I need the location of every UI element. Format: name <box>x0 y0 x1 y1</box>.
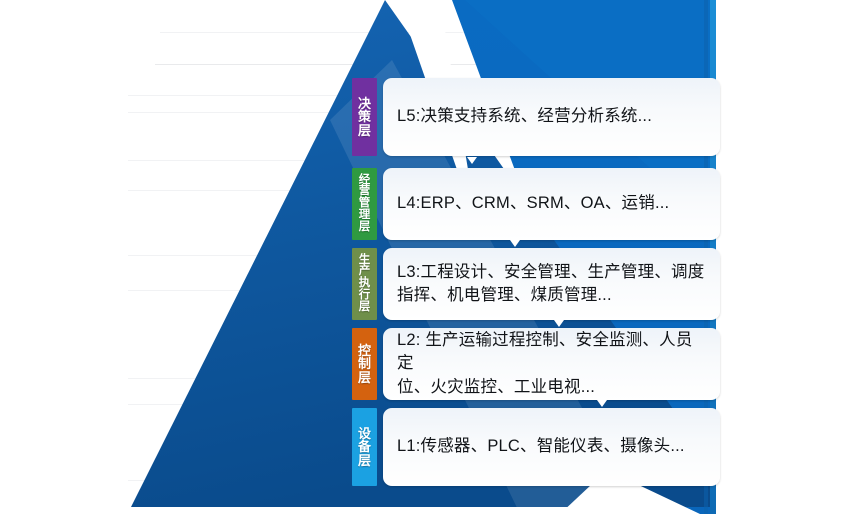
layer-tab-l5[interactable]: 决 策 层 <box>352 78 377 156</box>
slide-canvas: 决 策 层 L5:决策支持系统、经营分析系统... 经 营 管 理 层 L4: <box>0 0 856 514</box>
layer-tab-l4[interactable]: 经 营 管 理 层 <box>352 168 377 240</box>
layer-tab-char: 层 <box>358 454 371 467</box>
layer-card-line: L3:工程设计、安全管理、生产管理、调度 <box>397 261 704 284</box>
layer-tab-char: 层 <box>359 222 371 234</box>
divider-caret-top <box>424 70 434 77</box>
layer-tab-l2[interactable]: 控 制 层 <box>352 328 377 400</box>
layer-tab-char: 层 <box>359 302 371 314</box>
layer-row-l1[interactable]: 设 备 层 L1:传感器、PLC、智能仪表、摄像头... <box>352 408 720 486</box>
layer-card-line: L5:决策支持系统、经营分析系统... <box>397 105 652 128</box>
layer-row-l3[interactable]: 生 产 执 行 层 L3:工程设计、安全管理、生产管理、调度 指挥、机电管理、煤… <box>352 248 720 320</box>
layer-tab-char: 层 <box>358 124 371 137</box>
layer-card-line: L1:传感器、PLC、智能仪表、摄像头... <box>397 435 685 458</box>
divider-caret-l5-l4 <box>467 157 477 164</box>
layer-row-l4[interactable]: 经 营 管 理 层 L4:ERP、CRM、SRM、OA、运销... <box>352 168 720 240</box>
divider-caret-l4-l3 <box>510 240 520 247</box>
layer-tab-char: 制 <box>358 357 371 370</box>
divider-caret-l2-l1 <box>597 400 607 407</box>
layer-tab-char: 备 <box>358 440 371 453</box>
layer-card-l2[interactable]: L2: 生产运输过程控制、安全监测、人员定 位、火灾监控、工业电视... <box>383 328 720 400</box>
pyramid-layer-stack: 决 策 层 L5:决策支持系统、经营分析系统... 经 营 管 理 层 L4: <box>352 74 720 494</box>
layer-card-text-l3: L3:工程设计、安全管理、生产管理、调度 指挥、机电管理、煤质管理... <box>397 261 704 308</box>
layer-row-l5[interactable]: 决 策 层 L5:决策支持系统、经营分析系统... <box>352 78 720 156</box>
layer-card-line: 位、火灾监控、工业电视... <box>397 376 706 399</box>
divider-caret-l3-l2 <box>554 320 564 327</box>
layer-card-text-l4: L4:ERP、CRM、SRM、OA、运销... <box>397 192 669 215</box>
layer-card-line: L2: 生产运输过程控制、安全监测、人员定 <box>397 329 706 376</box>
layer-tab-l1[interactable]: 设 备 层 <box>352 408 377 486</box>
layer-card-line: L4:ERP、CRM、SRM、OA、运销... <box>397 192 669 215</box>
layer-card-line: 指挥、机电管理、煤质管理... <box>397 284 704 307</box>
layer-tab-char: 行 <box>359 290 371 302</box>
layer-card-text-l2: L2: 生产运输过程控制、安全监测、人员定 位、火灾监控、工业电视... <box>397 329 706 399</box>
layer-card-l5[interactable]: L5:决策支持系统、经营分析系统... <box>383 78 720 156</box>
layer-tab-char: 层 <box>358 371 371 384</box>
layer-card-l3[interactable]: L3:工程设计、安全管理、生产管理、调度 指挥、机电管理、煤质管理... <box>383 248 720 320</box>
layer-card-text-l5: L5:决策支持系统、经营分析系统... <box>397 105 652 128</box>
layer-card-l1[interactable]: L1:传感器、PLC、智能仪表、摄像头... <box>383 408 720 486</box>
layer-tab-char: 策 <box>358 110 371 123</box>
layer-tab-l3[interactable]: 生 产 执 行 层 <box>352 248 377 320</box>
layer-card-l4[interactable]: L4:ERP、CRM、SRM、OA、运销... <box>383 168 720 240</box>
layer-row-l2[interactable]: 控 制 层 L2: 生产运输过程控制、安全监测、人员定 位、火灾监控、工业电视.… <box>352 328 720 400</box>
layer-tab-char: 理 <box>359 210 371 222</box>
layer-card-text-l1: L1:传感器、PLC、智能仪表、摄像头... <box>397 435 685 458</box>
